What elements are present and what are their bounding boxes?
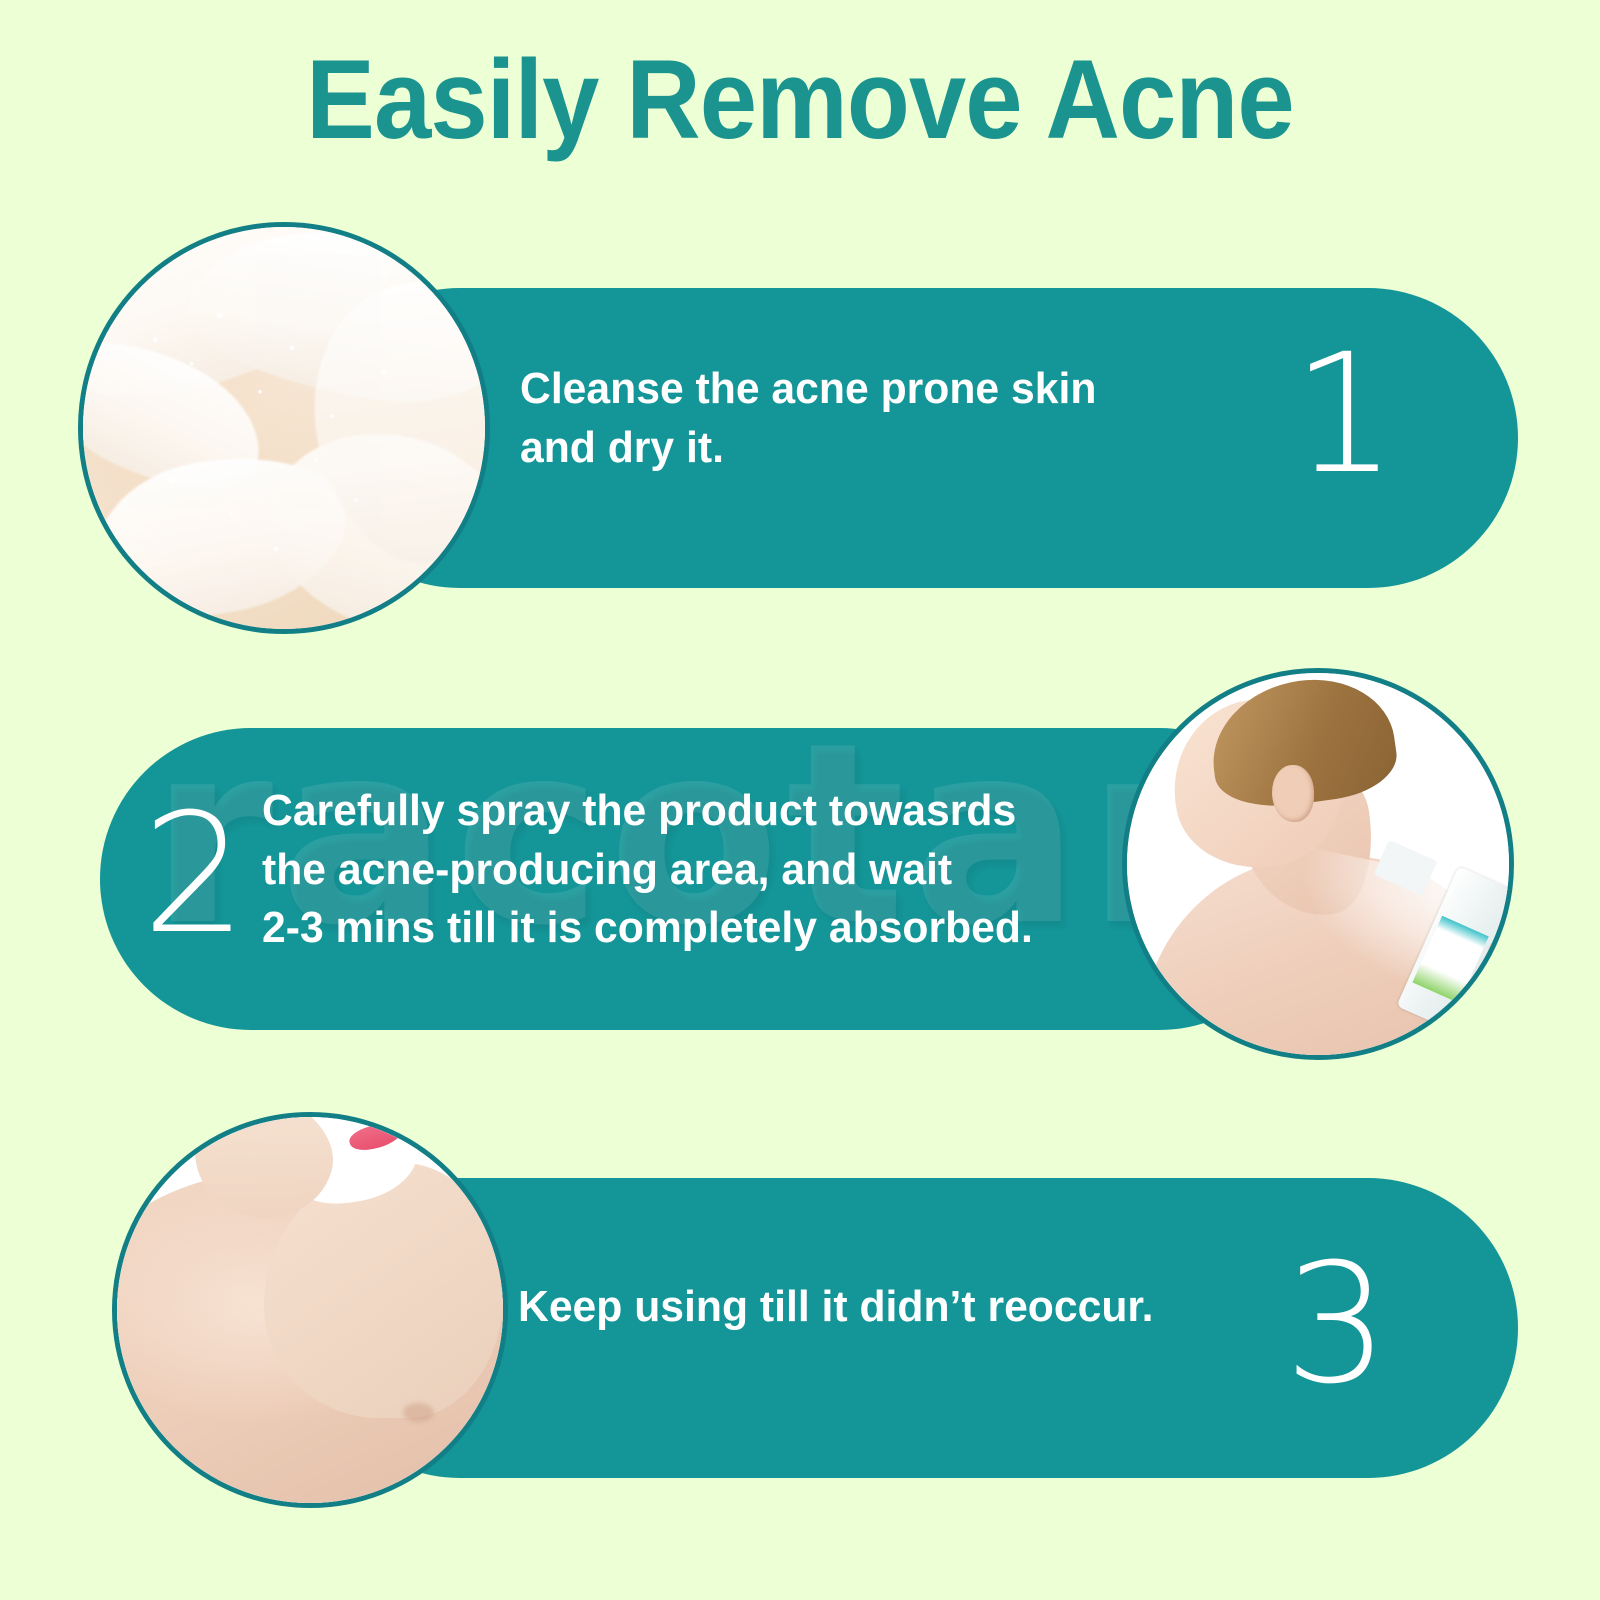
step-3-image bbox=[112, 1112, 508, 1508]
clear-skin-illustration bbox=[117, 1117, 503, 1503]
page-title: Easily Remove Acne bbox=[64, 44, 1536, 156]
step-2-image bbox=[1122, 668, 1514, 1060]
step-3-text: Keep using till it didn’t reoccur. bbox=[518, 1278, 1255, 1337]
step-2-text: Carefully spray the product towasrds the… bbox=[262, 782, 1067, 958]
cleansing-foam-illustration bbox=[83, 227, 485, 629]
step-1-number: 1 bbox=[1292, 332, 1397, 497]
step-3-number: 3 bbox=[1284, 1242, 1389, 1407]
step-1-text: Cleanse the acne prone skin and dry it. bbox=[520, 360, 1257, 477]
step-1-image bbox=[78, 222, 490, 634]
step-2-number: 2 bbox=[142, 792, 247, 957]
spray-application-illustration bbox=[1127, 673, 1509, 1055]
poster-root: Easily Remove Acne Cleanse the acne pron… bbox=[0, 0, 1600, 1600]
